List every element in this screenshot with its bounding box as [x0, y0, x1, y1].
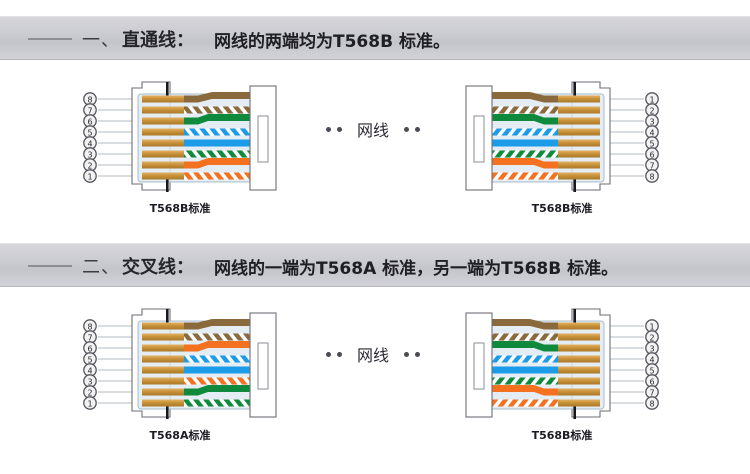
pin-number-3: 3 — [87, 377, 92, 386]
section-header-content-crossover: 二、 交叉线： 网线的一端为T568A 标准，另一端为T568B 标准。 — [0, 244, 618, 288]
cable-dots-left — [326, 127, 342, 132]
pin-number-7: 7 — [87, 333, 92, 342]
cable-boot-window — [258, 343, 268, 389]
pin-number-3: 3 — [87, 150, 92, 159]
wire-pin3-white-orange — [184, 378, 252, 385]
wire-pin7-white-brown — [490, 107, 558, 114]
pin-number-6: 6 — [649, 377, 654, 386]
crimp-bar-top — [166, 82, 169, 96]
pin-number-1: 1 — [87, 172, 92, 181]
section-header-content-straight: 一、 直通线： 网线的两端均为T568B 标准。 — [0, 17, 450, 61]
wire-pin4-blue — [184, 367, 252, 374]
crimp-bar-top — [573, 309, 576, 323]
pin-number-4: 4 — [87, 139, 92, 148]
wire-pin7-white-brown — [490, 334, 558, 341]
cable-label-crossover: 网线 — [298, 339, 448, 369]
wire-pin3-white-green — [490, 378, 558, 385]
dot-icon — [415, 127, 420, 132]
connector-svg-crossover-left: 8 7 6 5 4 3 2 1 — [80, 307, 280, 425]
pin-number-3: 3 — [649, 117, 654, 126]
wire-pin1-white-orange — [490, 173, 558, 180]
pin-number-6: 6 — [87, 117, 92, 126]
pin-number-5: 5 — [649, 139, 654, 148]
connector-svg-straight-left: 8 7 6 5 4 3 2 1 — [80, 80, 280, 198]
pin-number-8: 8 — [649, 172, 654, 181]
dot-icon — [404, 352, 409, 357]
pin-number-6: 6 — [649, 150, 654, 159]
pin-number-2: 2 — [649, 106, 654, 115]
wire-pin5-white-blue — [490, 129, 558, 136]
connector-straight-left: 8 7 6 5 4 3 2 1 T568B标准 — [80, 80, 280, 220]
dot-icon — [337, 127, 342, 132]
pin-number-group: 8 7 6 5 4 3 2 1 — [84, 320, 96, 409]
cable-dots-right — [404, 352, 420, 357]
pin-number-4: 4 — [649, 355, 654, 364]
dot-icon — [326, 127, 331, 132]
dot-icon — [326, 352, 331, 357]
section-number-crossover: 二、 — [82, 253, 120, 279]
crimp-bar-top — [573, 82, 576, 96]
section-number-straight: 一、 — [82, 26, 120, 52]
wire-pin5-white-blue — [184, 129, 252, 136]
connector-svg-straight-right: 1 2 3 4 5 6 7 8 — [462, 80, 662, 198]
diagram-row-straight-through: 8 7 6 5 4 3 2 1 T568B标准 网线 — [0, 80, 750, 230]
wire-pin5-white-blue — [490, 356, 558, 363]
section-title-crossover: 交叉线： — [122, 253, 194, 279]
pin-number-5: 5 — [87, 355, 92, 364]
wire-pin1-white-orange — [490, 400, 558, 407]
pin-number-7: 7 — [649, 388, 654, 397]
pin-number-2: 2 — [87, 388, 92, 397]
wire-pin4-blue — [184, 140, 252, 147]
pin-number-7: 7 — [87, 106, 92, 115]
pin-number-8: 8 — [87, 95, 92, 104]
section-title-straight: 直通线： — [122, 26, 194, 52]
cable-boot-window — [474, 343, 484, 389]
pin-number-1: 1 — [649, 322, 654, 331]
connector-straight-right: 1 2 3 4 5 6 7 8 T568B标准 — [462, 80, 662, 220]
pin-number-4: 4 — [87, 366, 92, 375]
pin-number-8: 8 — [87, 322, 92, 331]
wire-pin3-white-green — [490, 151, 558, 158]
pin-number-6: 6 — [87, 344, 92, 353]
connector-svg-crossover-right: 1 2 3 4 5 6 7 8 — [462, 307, 662, 425]
pin-number-5: 5 — [649, 366, 654, 375]
pin-number-7: 7 — [649, 161, 654, 170]
header-lead-rule — [28, 265, 72, 267]
section-description-straight: 网线的两端均为T568B 标准。 — [214, 27, 450, 52]
cable-label-text-crossover: 网线 — [357, 342, 389, 366]
connector-crossover-right: 1 2 3 4 5 6 7 8 T568B标准 — [462, 307, 662, 447]
pin-number-group: 8 7 6 5 4 3 2 1 — [84, 93, 96, 182]
connector-caption-crossover-left: T568A标准 — [80, 427, 280, 443]
pin-number-8: 8 — [649, 399, 654, 408]
connector-caption-straight-left: T568B标准 — [80, 200, 280, 216]
dot-icon — [404, 127, 409, 132]
crimp-bar-bottom — [573, 178, 576, 192]
pin-number-4: 4 — [649, 128, 654, 137]
pin-number-1: 1 — [87, 399, 92, 408]
wire-pin7-white-brown — [184, 107, 252, 114]
wire-pin4-blue — [490, 367, 558, 374]
crimp-bar-top — [166, 309, 169, 323]
pin-number-2: 2 — [87, 161, 92, 170]
connector-crossover-left: 8 7 6 5 4 3 2 1 T568A标准 — [80, 307, 280, 447]
wire-pin3-white-green — [184, 151, 252, 158]
wire-pin1-white-green — [184, 400, 252, 407]
pin-number-5: 5 — [87, 128, 92, 137]
section-header-bar-crossover: 二、 交叉线： 网线的一端为T568A 标准，另一端为T568B 标准。 — [0, 243, 750, 287]
dot-icon — [337, 352, 342, 357]
pin-number-3: 3 — [649, 344, 654, 353]
wire-pin4-blue — [490, 140, 558, 147]
connector-caption-straight-right: T568B标准 — [462, 200, 662, 216]
header-lead-rule — [28, 38, 72, 40]
dot-icon — [415, 352, 420, 357]
cable-dots-right — [404, 127, 420, 132]
pin-number-2: 2 — [649, 333, 654, 342]
diagram-row-crossover: 8 7 6 5 4 3 2 1 T568A标准 网线 — [0, 305, 750, 455]
section-header-bar-straight: 一、 直通线： 网线的两端均为T568B 标准。 — [0, 16, 750, 60]
cable-label-straight: 网线 — [298, 114, 448, 144]
cable-label-text-straight: 网线 — [357, 117, 389, 141]
connector-caption-crossover-right: T568B标准 — [462, 427, 662, 443]
crimp-bar-bottom — [166, 178, 169, 192]
wire-pin5-white-blue — [184, 356, 252, 363]
crimp-bar-bottom — [573, 405, 576, 419]
section-description-crossover: 网线的一端为T568A 标准，另一端为T568B 标准。 — [214, 254, 618, 279]
wire-pin7-white-brown — [184, 334, 252, 341]
pin-number-1: 1 — [649, 95, 654, 104]
crimp-bar-bottom — [166, 405, 169, 419]
wire-pin1-white-orange — [184, 173, 252, 180]
cable-dots-left — [326, 352, 342, 357]
cable-boot-window — [258, 116, 268, 162]
cable-boot-window — [474, 116, 484, 162]
